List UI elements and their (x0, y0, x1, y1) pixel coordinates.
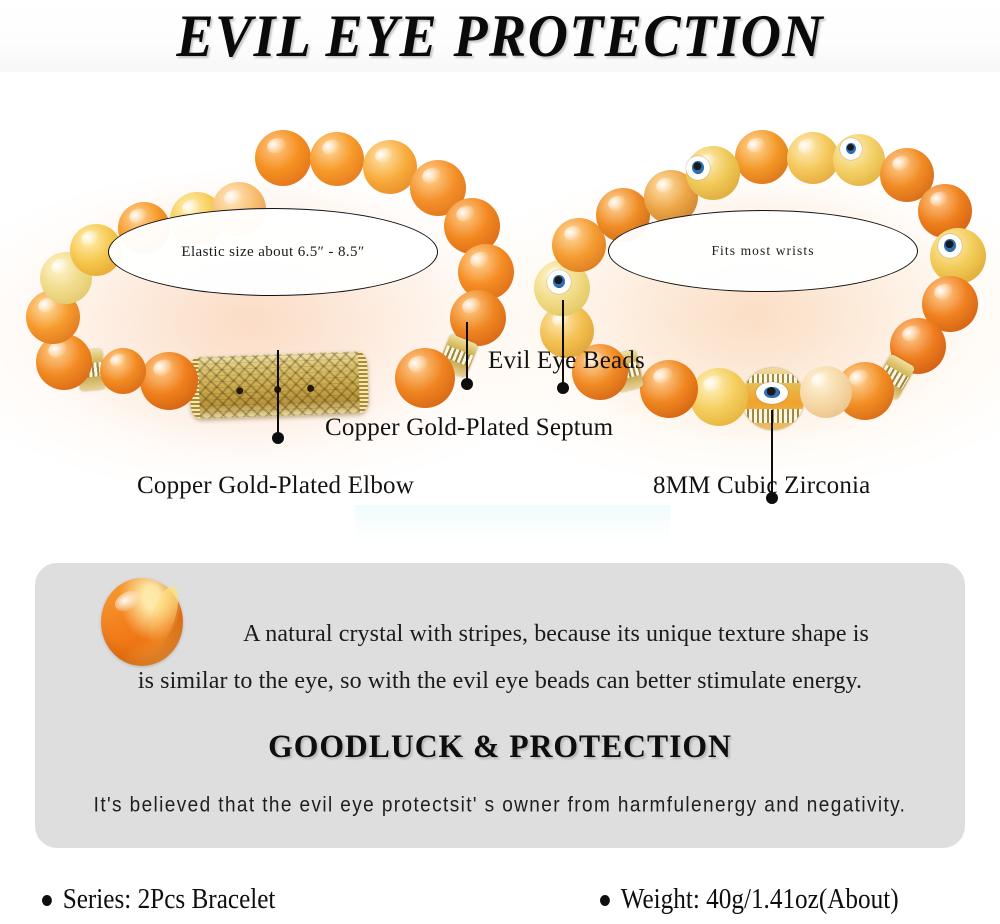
label-copper-gold-plated-septum: Copper Gold-Plated Septum (325, 414, 613, 442)
label-cubic-zirconia: 8MM Cubic Zirconia (653, 472, 870, 500)
label-copper-gold-plated-elbow: Copper Gold-Plated Elbow (137, 472, 414, 500)
leader-dot-septum (461, 378, 473, 390)
info-panel: A natural crystal with stripes, because … (35, 563, 965, 848)
evil-eye-motif (686, 156, 710, 180)
fits-most-wrists-callout: Fits most wrists (608, 210, 918, 292)
evil-eye-motif (547, 270, 571, 294)
agate-bead (255, 130, 311, 186)
agate-bead (735, 130, 789, 184)
gold-plated-septum (189, 351, 369, 419)
leader-line-elbow (277, 350, 279, 436)
agate-bead (395, 348, 455, 408)
agate-bead (787, 132, 839, 184)
spec-weight: Weight: 40g/1.41oz(About) (600, 884, 899, 916)
description-line-2: is similar to the eye, so with the evil … (35, 668, 965, 695)
panel-tagline: It's believed that the evil eye protects… (35, 794, 965, 819)
agate-bead (800, 366, 852, 418)
elastic-size-callout: Elastic size about 6.5″ - 8.5″ (108, 208, 438, 296)
agate-bead (310, 132, 364, 186)
bullet-dot-icon (42, 895, 52, 906)
agate-bead (363, 140, 417, 194)
description-line-1: A natural crystal with stripes, because … (35, 621, 965, 648)
agate-bead (140, 352, 198, 410)
agate-bead (690, 368, 748, 426)
evil-eye-motif (840, 138, 862, 160)
spec-series: Series: 2Pcs Bracelet (42, 884, 275, 916)
photo-seam (355, 505, 670, 546)
spec-weight-text: Weight: 40g/1.41oz(About) (621, 884, 899, 916)
leader-line-septum (466, 322, 468, 382)
bullet-dot-icon (600, 895, 610, 906)
label-evil-eye-beads: Evil Eye Beads (488, 347, 645, 375)
evil-eye-motif (756, 382, 788, 404)
agate-bead (640, 360, 698, 418)
leader-dot-elbow (272, 432, 284, 444)
infographic-page: EVIL EYE PROTECTION (0, 0, 1000, 924)
page-title: EVIL EYE PROTECTION (176, 6, 824, 66)
leader-dot-evil-eye-beads (557, 382, 569, 394)
elastic-size-text: Elastic size about 6.5″ - 8.5″ (181, 244, 364, 261)
agate-bead (100, 348, 146, 394)
title-banner: EVIL EYE PROTECTION (0, 0, 1000, 72)
panel-headline: GOODLUCK & PROTECTION (54, 729, 947, 766)
fits-most-wrists-text: Fits most wrists (711, 243, 814, 259)
spec-series-text: Series: 2Pcs Bracelet (63, 884, 276, 916)
evil-eye-motif (938, 234, 962, 258)
